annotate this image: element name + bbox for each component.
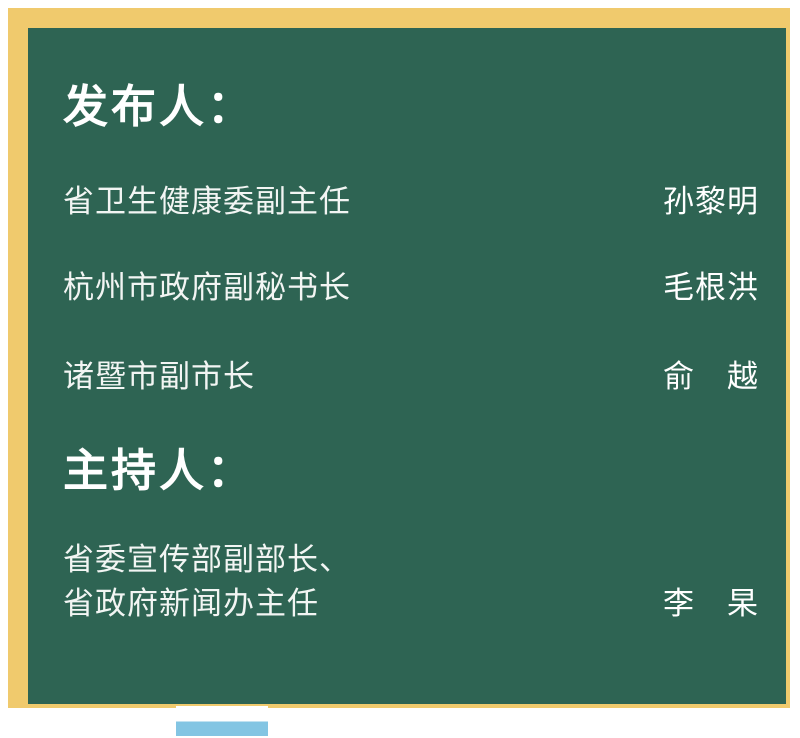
- speaker-name: 毛根洪: [663, 266, 759, 310]
- host-section-title: 主持人：: [63, 448, 255, 493]
- speaker-row: 省卫生健康委副主任 孙黎明: [63, 180, 759, 224]
- speaker-role: 省卫生健康委副主任: [63, 180, 351, 224]
- gold-frame: 发布人： 省卫生健康委副主任 孙黎明 杭州市政府副秘书长 毛根洪 诸暨市副市长 …: [8, 8, 790, 708]
- host-role: 省委宣传部副部长、 省政府新闻办主任: [63, 538, 351, 626]
- speaker-name: 孙黎明: [663, 180, 759, 224]
- speaker-name: 俞 越: [663, 355, 759, 399]
- poster: 发布人： 省卫生健康委副主任 孙黎明 杭州市政府副秘书长 毛根洪 诸暨市副市长 …: [0, 0, 800, 738]
- speaker-row: 诸暨市副市长 俞 越: [63, 355, 759, 399]
- speaker-row: 杭州市政府副秘书长 毛根洪: [63, 266, 759, 310]
- bottom-color-bar: [176, 706, 268, 736]
- speakers-section-title: 发布人：: [63, 84, 255, 129]
- speaker-role: 杭州市政府副秘书长: [63, 266, 351, 310]
- host-name: 李 杲: [663, 582, 759, 626]
- green-board: 发布人： 省卫生健康委副主任 孙黎明 杭州市政府副秘书长 毛根洪 诸暨市副市长 …: [28, 28, 786, 704]
- host-row: 省委宣传部副部长、 省政府新闻办主任 李 杲: [63, 538, 759, 626]
- speaker-role: 诸暨市副市长: [63, 355, 255, 399]
